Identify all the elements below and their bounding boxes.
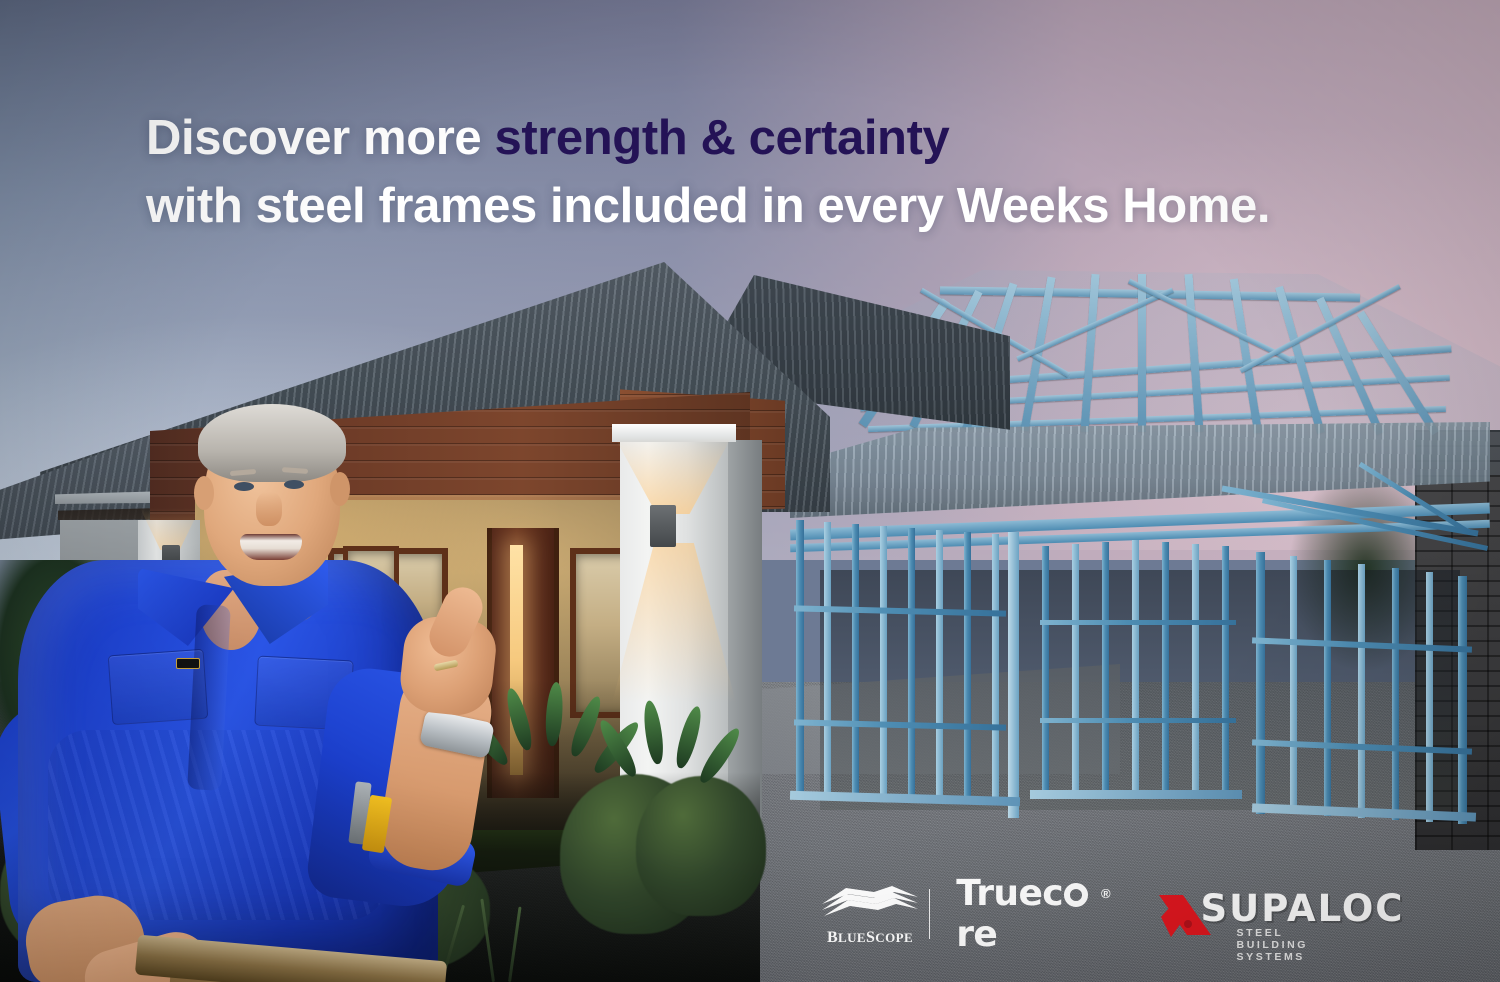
registered-trademark-icon: ® — [1101, 886, 1111, 901]
wall-light-fixture — [650, 505, 676, 547]
headline-line-1: Discover more strength & certainty — [146, 104, 1346, 172]
headline-plain: Discover more — [146, 111, 494, 165]
shirt-brand-tab — [176, 658, 200, 669]
roof-battens — [790, 422, 1490, 518]
ear-left — [194, 476, 214, 510]
truecore-o-glyph — [1064, 883, 1088, 907]
headline-accent: strength & certainty — [494, 111, 949, 165]
bluescope-wordmark: BLUESCOPE — [810, 929, 930, 947]
truecore-logo: Truecre ® — [956, 888, 1094, 940]
marketing-banner: Discover more strength & certainty with … — [0, 0, 1500, 982]
page-title: Discover more strength & certainty with … — [146, 104, 1346, 240]
eye-left — [234, 482, 254, 491]
presenter-figure — [18, 400, 488, 982]
bluescope-wave-mark — [820, 883, 920, 921]
eye-right — [284, 480, 304, 489]
logo-strip: BLUESCOPE Truecre ® SUPALOC STEEL BUILDI… — [810, 876, 1330, 952]
supaloc-logo: SUPALOC STEEL BUILDING SYSTEMS — [1157, 883, 1330, 945]
truecore-wordmark: Truecre — [956, 873, 1094, 955]
hair — [198, 404, 346, 482]
nose — [256, 492, 282, 526]
supaloc-wordmark: SUPALOC — [1201, 887, 1405, 930]
supaloc-tagline: STEEL BUILDING SYSTEMS — [1237, 927, 1330, 963]
headline-line-2: with steel frames included in every Week… — [146, 172, 1346, 240]
ear-right — [330, 472, 350, 506]
smiling-mouth — [240, 534, 302, 560]
shrub — [636, 776, 766, 916]
bluescope-logo: BLUESCOPE — [810, 881, 905, 947]
